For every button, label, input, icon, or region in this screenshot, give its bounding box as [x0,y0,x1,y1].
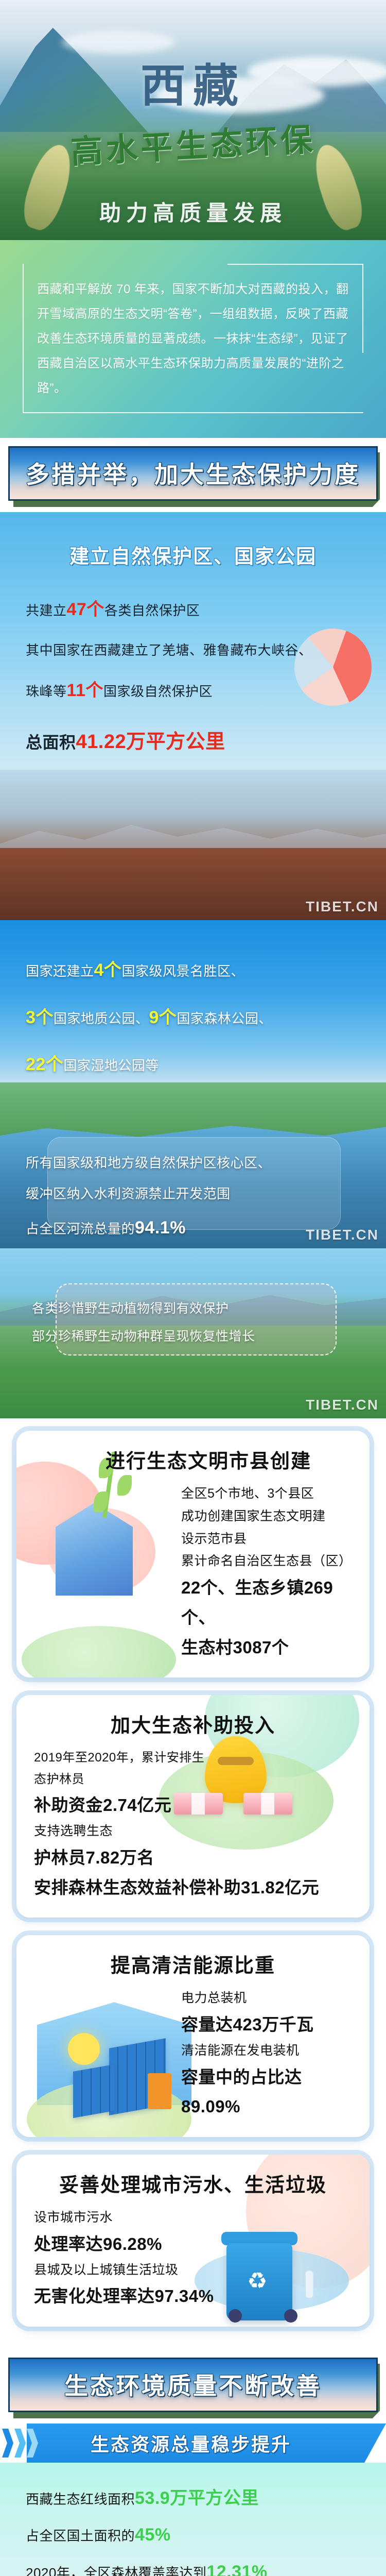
card-line: 处理率达96.28% [34,2229,215,2259]
card-line: 设示范市县 [181,1528,352,1551]
ribbon-resources: 生态资源总量稳步提升 [27,2424,386,2463]
resource-line: 2020年，全区森林覆盖率达到12.31% [26,2554,360,2576]
wildlife-line-2: 部分珍稀野生动物种群呈现恢复性增长 [32,1326,354,1348]
hero-subtitle: 助力高质量发展 [0,196,386,227]
card-line: 电力总装机 [181,1987,352,2010]
ribbon-resources-wrap: 生态资源总量稳步提升 [0,2424,386,2463]
card-waste-water: ♻ 妥善处理城市污水、生活垃圾 设市城市污水 处理率达96.28% 县城及以上城… [16,2155,370,2327]
card-title: 进行生态文明市县创建 [16,1431,370,1473]
parks-l3-num: 22个 [26,1055,63,1074]
parks-line-1: 国家还建立4个国家级风景名胜区、 [26,955,360,986]
section2-plate: 生态环境质量不断改善 [8,2358,378,2412]
wildlife-line-1: 各类珍惜野生动植物得到有效保护 [32,1298,354,1320]
reserves-heading: 建立自然保护区、国家公园 [26,540,360,574]
reserves-block: 建立自然保护区、国家公园 共建立47个各类自然保护区 其中国家在西藏建立了羌塘、… [0,512,386,770]
parks-l2-num1: 3个 [26,1008,54,1027]
hero-headline: 高水平生态环保 [0,109,386,176]
parks-line-2: 3个国家地质公园、9个国家森林公园、 [26,1003,360,1033]
card-body: 设市城市污水 处理率达96.28% 县城及以上城镇生活垃圾 无害化处理率达97.… [16,2197,370,2327]
kiang-photo: TIBET.CN [0,770,386,920]
parks-l1-num: 4个 [94,960,122,980]
water-line-2: 缓冲区纳入水利资源禁止开发范围 [26,1182,360,1206]
card-title: 加大生态补助投入 [16,1695,370,1738]
reserves-l3-pre: 珠峰等 [26,684,67,699]
card-line: 县城及以上城镇生活垃圾 [34,2259,215,2282]
resources-stats: 西藏生态红线面积53.9万平方公里 占全区国土面积的45% 2020年，全区森林… [0,2463,386,2576]
parks-block: 国家还建立4个国家级风景名胜区、 3个国家地质公园、9个国家森林公园、 22个国… [0,920,386,1082]
water-protection-photo: 所有国家级和地方级自然保护区核心区、 缓冲区纳入水利资源禁止开发范围 占全区河流… [0,1082,386,1248]
water-l3-pre: 占全区河流总量的 [26,1221,135,1236]
resource-num: 45% [135,2525,171,2545]
reserves-l1-post: 各类自然保护区 [104,603,200,618]
resource-num: 53.9万平方公里 [135,2488,259,2508]
card-line: 清洁能源在发电装机 [181,2040,352,2062]
card-clean-energy: 提高清洁能源比重 电力总装机 容量达423万千瓦 清洁能源在发电装机 容量中的占… [16,1935,370,2137]
reserves-l1-num: 47个 [67,600,104,619]
reserves-l4-pre: 总面积 [26,733,76,752]
card-line: 设市城市污水 [34,2207,215,2229]
section2-title: 生态环境质量不断改善 [16,2367,370,2401]
reserves-line-4: 总面积41.22万平方公里 [26,725,360,759]
parks-l2-num2: 9个 [149,1008,177,1027]
ribbon-resources-label: 生态资源总量稳步提升 [91,2430,291,2456]
infographic-page: 西藏 高水平生态环保 助力高质量发展 西藏和平解放 70 年来，国家不断加大对西… [0,0,386,2576]
card-line: 安排森林生态效益补偿补助31.82亿元 [34,1873,363,1903]
card-body: 全区5个市地、3个县区 成功创建国家生态文明建 设示范市县 累计命名自治区生态县… [16,1473,370,1677]
hero-banner: 西藏 高水平生态环保 助力高质量发展 [0,0,386,240]
water-l3-num: 94.1% [135,1218,186,1238]
intro-frame: 西藏和平解放 70 年来，国家不断加大对西藏的投入，翻开雪域高原的生态文明“答卷… [23,264,363,413]
card-line: 22个、生态乡镇269个、 [181,1573,352,1633]
section1-title: 多措并举，加大生态保护力度 [16,456,370,490]
reserves-l1-pre: 共建立 [26,603,67,618]
wildlife-photo: 各类珍惜野生动植物得到有效保护 部分珍稀野生动物种群呈现恢复性增长 TIBET.… [0,1248,386,1418]
resource-line: 占全区国土面积的45% [26,2517,360,2553]
parks-l1-pre: 国家还建立 [26,963,94,979]
hero-title-cn: 西藏 [0,49,386,115]
reserves-l3-num: 11个 [67,681,103,700]
card-line: 全区5个市地、3个县区 [181,1483,352,1505]
resource-pre: 2020年，全区森林覆盖率达到 [26,2565,206,2576]
card-line: 容量达423万千瓦 [181,2010,352,2040]
watermark: TIBET.CN [306,1397,379,1413]
parks-l2-mid1: 国家地质公园、 [54,1011,149,1026]
resource-line: 西藏生态红线面积53.9万平方公里 [26,2480,360,2517]
reserves-l3-post: 国家级自然保护区 [103,684,213,699]
card-line: 补助资金2.74亿元 [34,1790,215,1820]
card-eco-subsidy: 加大生态补助投入 2019年至2020年，累计安排生态护林员 补助资金2.74亿… [16,1695,370,1918]
card-line: 累计命名自治区生态县（区） [181,1550,352,1573]
resource-pre: 占全区国土面积的 [26,2528,135,2544]
card-title: 提高清洁能源比重 [16,1935,370,1978]
parks-l1-post: 国家级风景名胜区、 [121,963,244,979]
resource-num: 12.31% [206,2562,267,2576]
card-eco-civilization: 进行生态文明市县创建 全区5个市地、3个县区 成功创建国家生态文明建 设示范市县… [16,1431,370,1677]
parks-l2-mid2: 国家森林公园、 [177,1011,272,1026]
reserves-line-1: 共建立47个各类自然保护区 [26,595,360,625]
section2-header: 生态环境质量不断改善 [0,2349,386,2424]
reserves-line-3: 珠峰等11个国家级自然保护区 [26,675,360,706]
card-line: 无害化处理率达97.34% [34,2281,215,2311]
card-line: 护林员7.82万名 [34,1843,215,1873]
intro-section: 西藏和平解放 70 年来，国家不断加大对西藏的投入，翻开雪域高原的生态文明“答卷… [0,240,386,438]
water-line-1: 所有国家级和地方级自然保护区核心区、 [26,1151,360,1175]
parks-line-3: 22个国家湿地公园等 [26,1049,360,1080]
section1-plate: 多措并举，加大生态保护力度 [8,446,378,501]
resource-pre: 西藏生态红线面积 [26,2492,135,2507]
card-body: 电力总装机 容量达423万千瓦 清洁能源在发电装机 容量中的占比达89.09% [16,1978,370,2137]
card-line: 容量中的占比达89.09% [181,2062,352,2122]
card-line: 生态村3087个 [181,1633,352,1663]
card-body: 2019年至2020年，累计安排生态护林员 补助资金2.74亿元 支持选聘生态 … [16,1738,370,1918]
lake-hills [0,1082,386,1144]
card-title: 妥善处理城市污水、生活垃圾 [16,2155,370,2197]
intro-paragraph: 西藏和平解放 70 年来，国家不断加大对西藏的投入，翻开雪域高原的生态文明“答卷… [37,277,351,401]
reserves-line-2: 其中国家在西藏建立了羌塘、雅鲁藏布大峡谷、 [26,639,360,663]
parks-l3-post: 国家湿地公园等 [63,1058,159,1073]
card-line: 2019年至2020年，累计安排生态护林员 [34,1747,215,1790]
reserves-l4-num: 41.22万平方公里 [76,731,225,753]
stat-cards: 进行生态文明市县创建 全区5个市地、3个县区 成功创建国家生态文明建 设示范市县… [0,1418,386,2349]
section1-header: 多措并举，加大生态保护力度 [0,438,386,512]
card-line: 支持选聘生态 [34,1820,215,1843]
chevron-icon [0,2424,62,2463]
card-line: 成功创建国家生态文明建 [181,1505,352,1528]
watermark: TIBET.CN [306,899,379,915]
watermark: TIBET.CN [306,1227,379,1243]
